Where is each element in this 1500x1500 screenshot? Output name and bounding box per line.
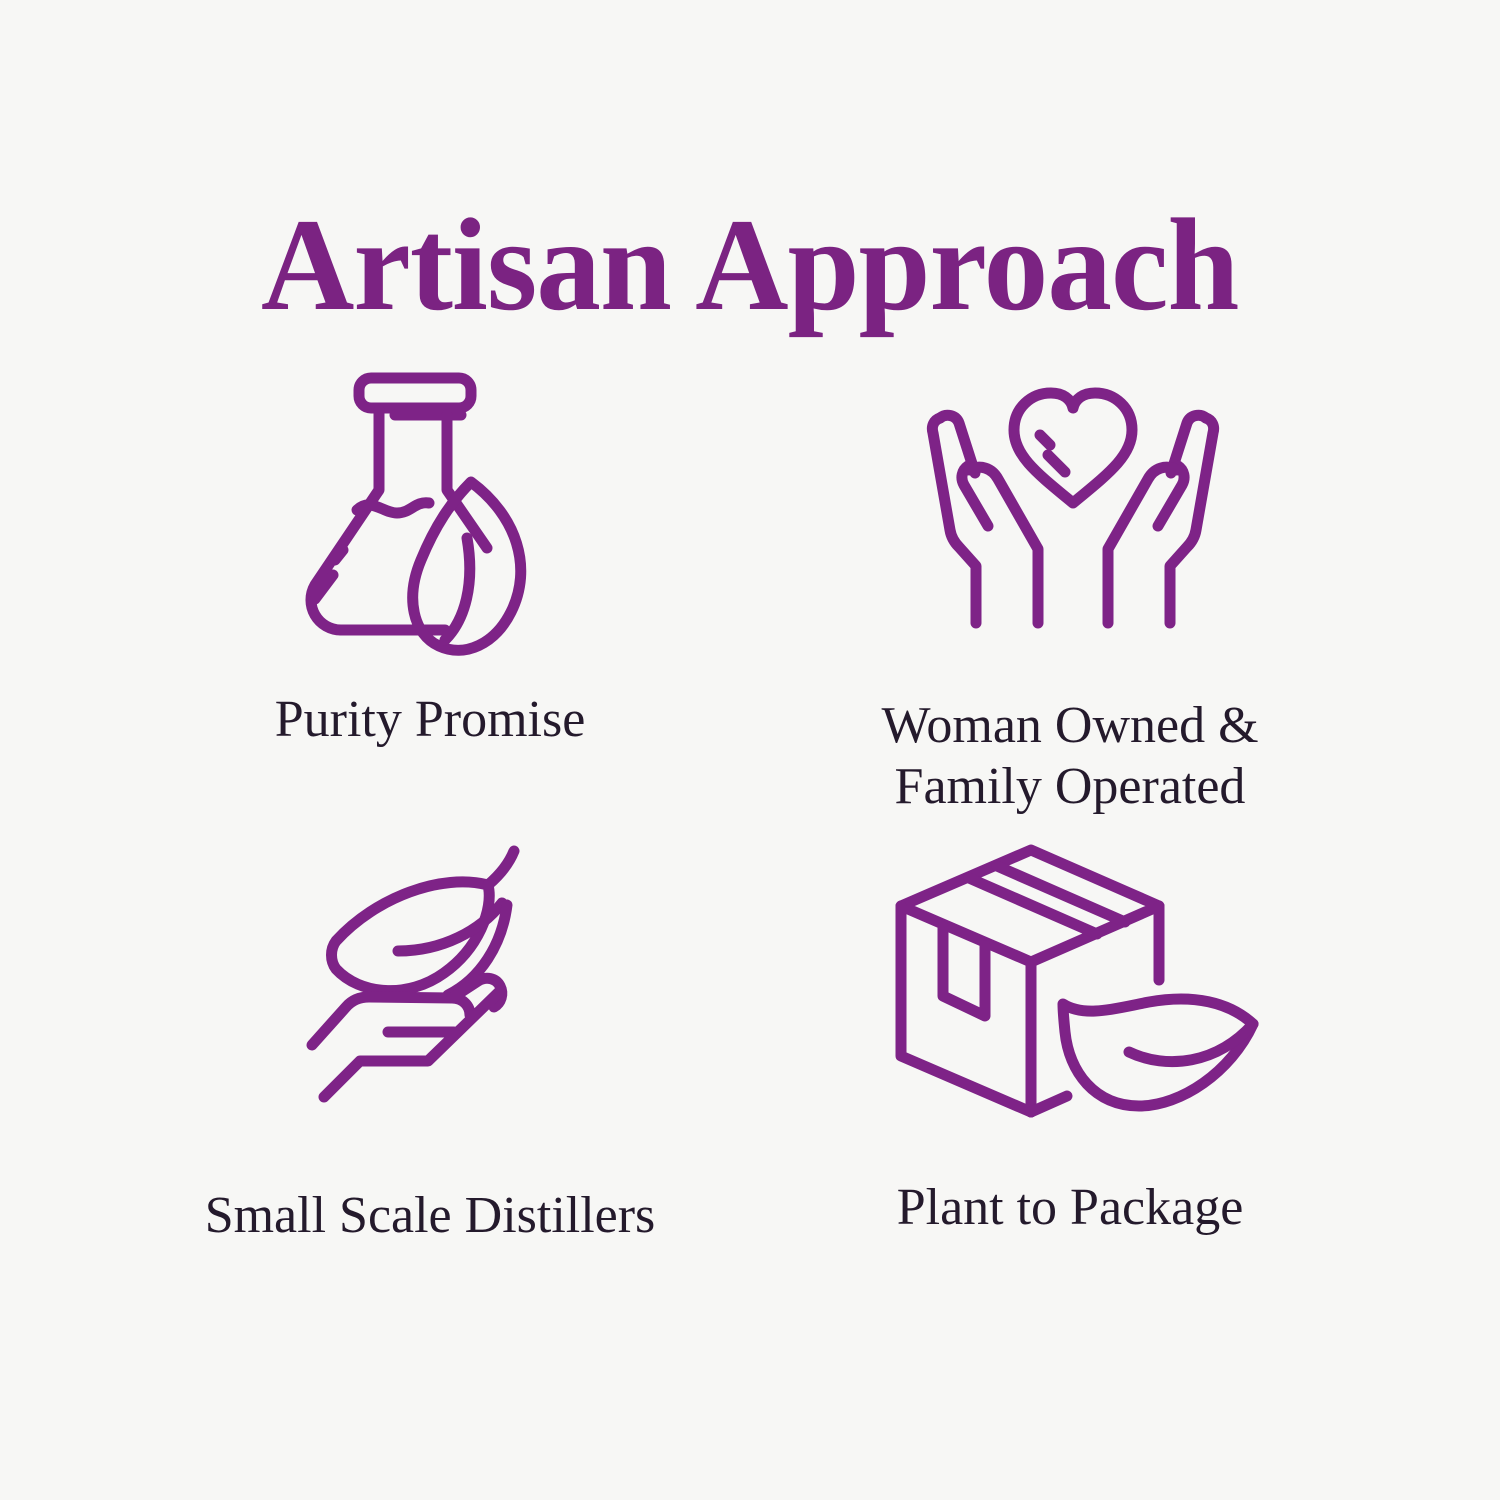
feature-label: Woman Owned & Family Operated bbox=[881, 695, 1258, 818]
artisan-approach-panel: Artisan Approach bbox=[0, 0, 1500, 1500]
feature-label: Plant to Package bbox=[897, 1177, 1244, 1238]
flask-leaf-icon bbox=[260, 355, 590, 655]
box-with-leaf-icon bbox=[916, 825, 1246, 1125]
feature-label: Purity Promise bbox=[275, 689, 586, 750]
feature-small-scale-distillers: Small Scale Distillers bbox=[110, 825, 750, 1295]
feature-grid: Purity Promise bbox=[110, 355, 1390, 1295]
feature-purity-promise: Purity Promise bbox=[110, 355, 750, 825]
feature-woman-owned: Woman Owned & Family Operated bbox=[750, 355, 1390, 825]
feature-label: Small Scale Distillers bbox=[205, 1185, 656, 1246]
hands-holding-heart-icon bbox=[908, 355, 1238, 655]
page-title: Artisan Approach bbox=[261, 196, 1238, 335]
leaf-over-open-hand-icon bbox=[262, 825, 592, 1125]
feature-plant-to-package: Plant to Package bbox=[750, 825, 1390, 1295]
